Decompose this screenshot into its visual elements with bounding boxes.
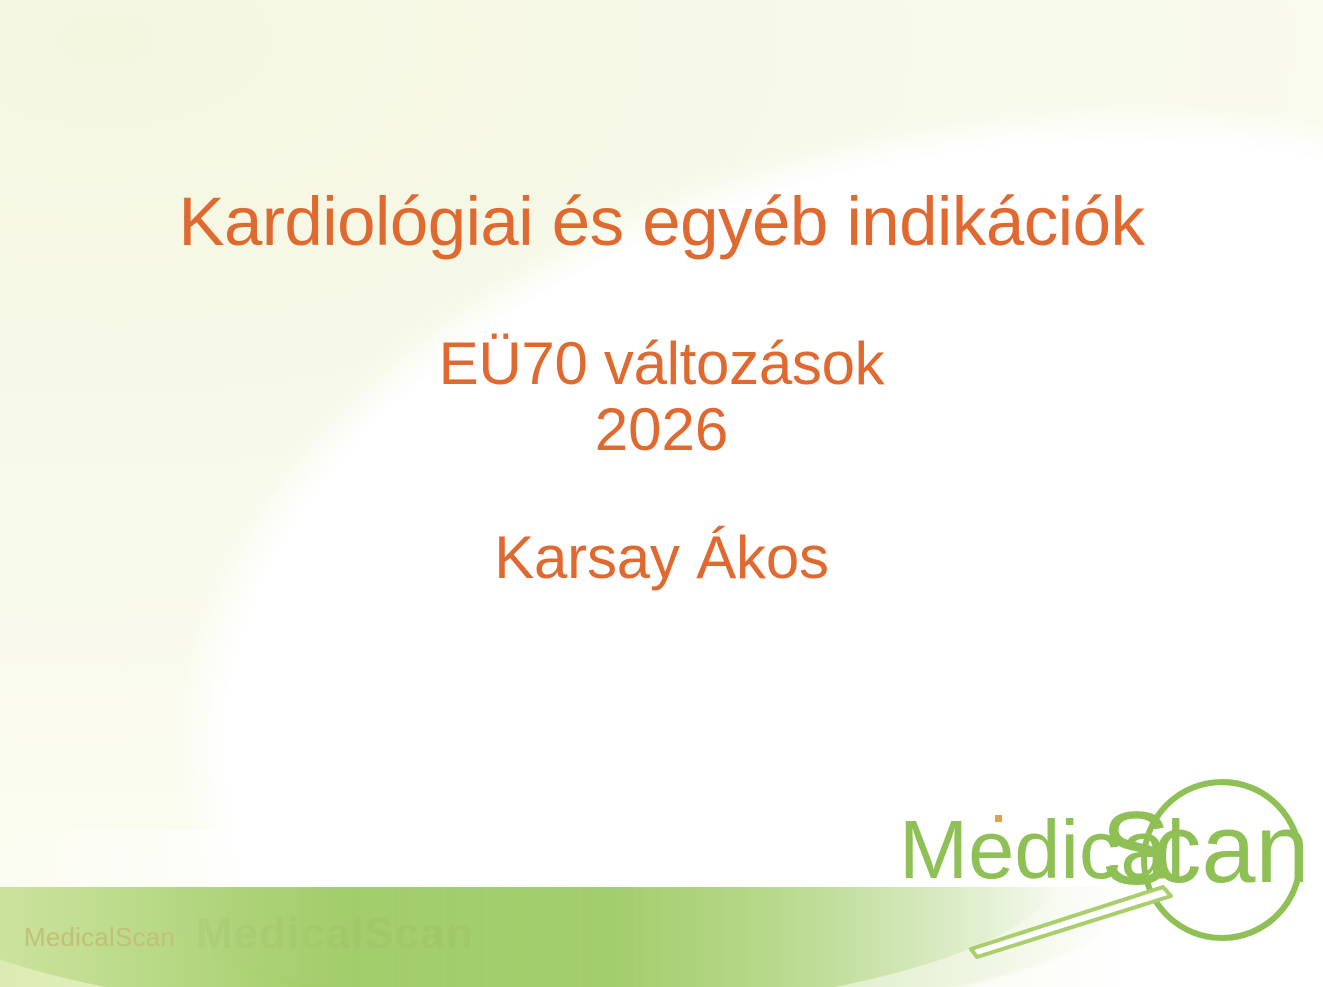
presentation-slide: Kardiológiai és egyéb indikációk EÜ70 vá… — [0, 0, 1323, 987]
medicalscan-logo-svg: Medical S can — [895, 766, 1323, 978]
footer-wordmark: MedicalScan — [24, 922, 175, 953]
medicalscan-logo: Medical S can — [895, 766, 1323, 978]
logo-i-dot-icon — [995, 815, 1002, 822]
